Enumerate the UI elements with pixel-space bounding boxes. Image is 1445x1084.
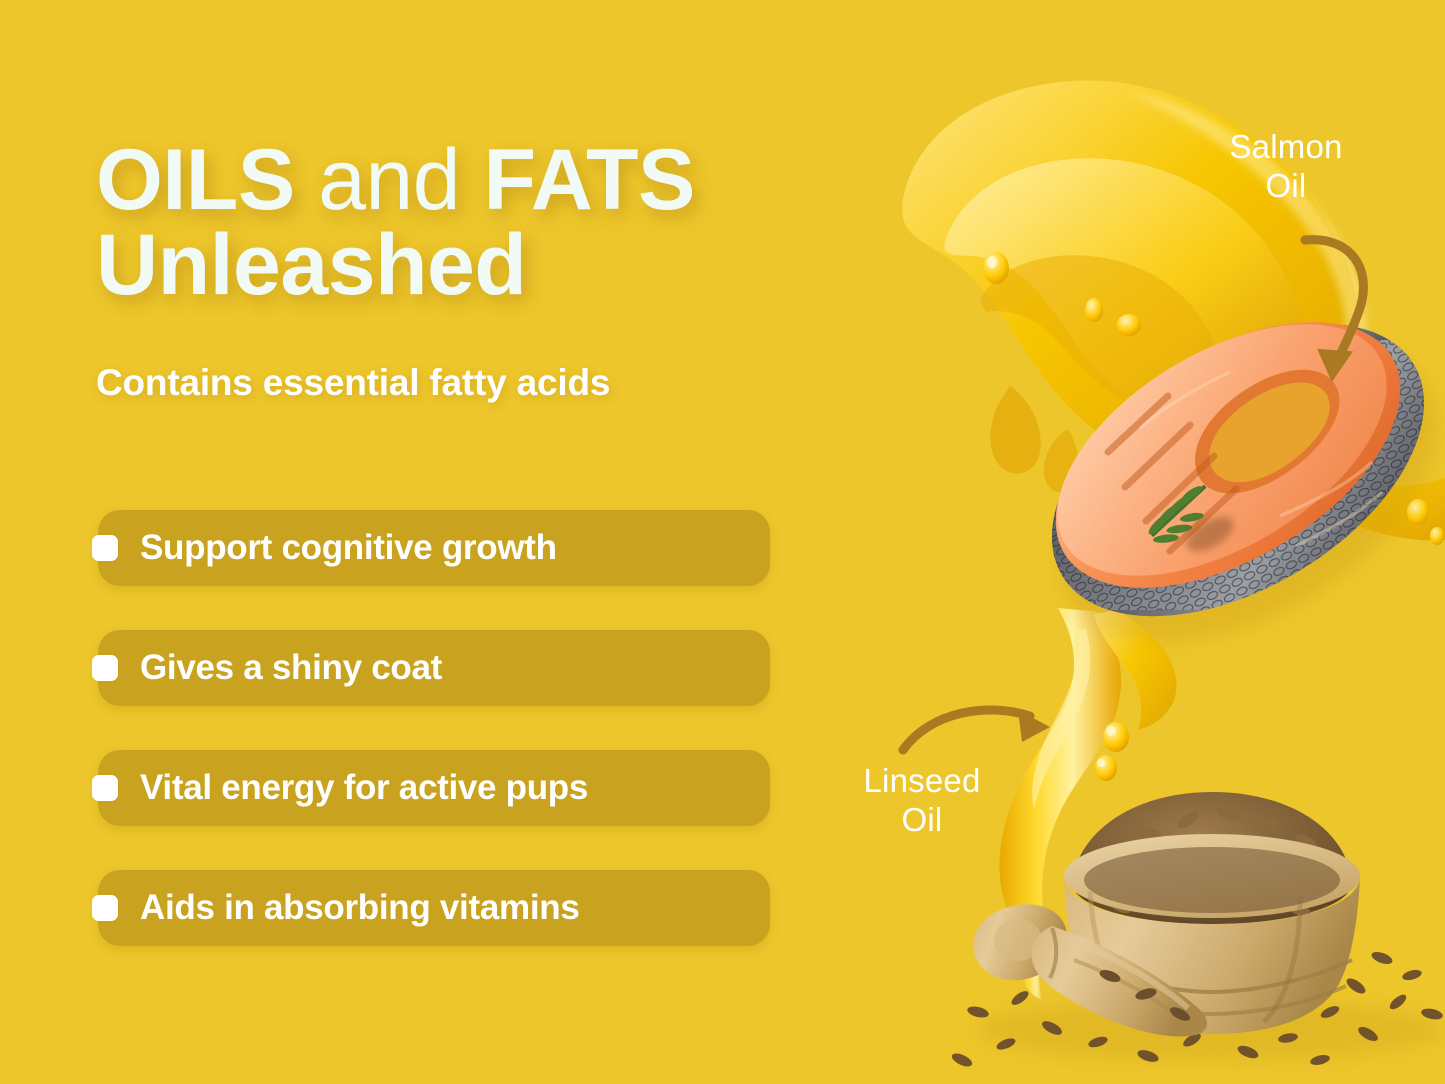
headline-word-fats: FATS: [484, 132, 695, 228]
square-bullet-icon: [92, 535, 118, 561]
poster-canvas: OILS and FATS Unleashed Contains essenti…: [0, 0, 1445, 1084]
callout-salmon-line2: Oil: [1186, 167, 1386, 206]
arrow-head-salmon: [1315, 349, 1353, 383]
salmon-steak-image: [1002, 263, 1445, 703]
rosemary-sprig: [1137, 482, 1220, 551]
subheadline: Contains essential fatty acids: [96, 362, 610, 404]
callout-linseed-line1: Linseed: [864, 762, 981, 799]
curved-arrow-right-icon: [903, 710, 1030, 750]
headline-line-1: OILS and FATS: [96, 138, 876, 223]
curved-arrow-down-icon: [1305, 240, 1363, 372]
benefit-item-cognitive-growth[interactable]: Support cognitive growth: [98, 510, 770, 586]
headline-word-and: and: [295, 132, 484, 228]
flaxseed-bowl-image: [950, 792, 1445, 1069]
callout-linseed-oil: Linseed Oil: [822, 762, 1022, 840]
scattered-seeds: [950, 950, 1444, 1070]
callout-linseed-line2: Oil: [822, 801, 1022, 840]
benefit-label: Aids in absorbing vitamins: [140, 888, 580, 928]
benefit-item-absorbing-vitamins[interactable]: Aids in absorbing vitamins: [98, 870, 770, 946]
benefits-list: Support cognitive growth Gives a shiny c…: [98, 510, 770, 946]
arrow-head-linseed: [1018, 710, 1050, 742]
callout-salmon-oil: Salmon Oil: [1186, 128, 1386, 206]
benefit-item-vital-energy[interactable]: Vital energy for active pups: [98, 750, 770, 826]
headline-word-oils: OILS: [96, 132, 295, 228]
square-bullet-icon: [92, 775, 118, 801]
benefit-item-shiny-coat[interactable]: Gives a shiny coat: [98, 630, 770, 706]
square-bullet-icon: [92, 655, 118, 681]
headline-line-2: Unleashed: [96, 223, 876, 308]
headline-block: OILS and FATS Unleashed: [96, 138, 876, 308]
square-bullet-icon: [92, 895, 118, 921]
benefit-label: Support cognitive growth: [140, 528, 557, 568]
benefit-label: Vital energy for active pups: [140, 768, 588, 808]
callout-salmon-line1: Salmon: [1229, 128, 1342, 165]
oil-stream-image: [999, 608, 1176, 1000]
wooden-scoop-image: [973, 904, 1207, 1036]
benefit-label: Gives a shiny coat: [140, 648, 442, 688]
